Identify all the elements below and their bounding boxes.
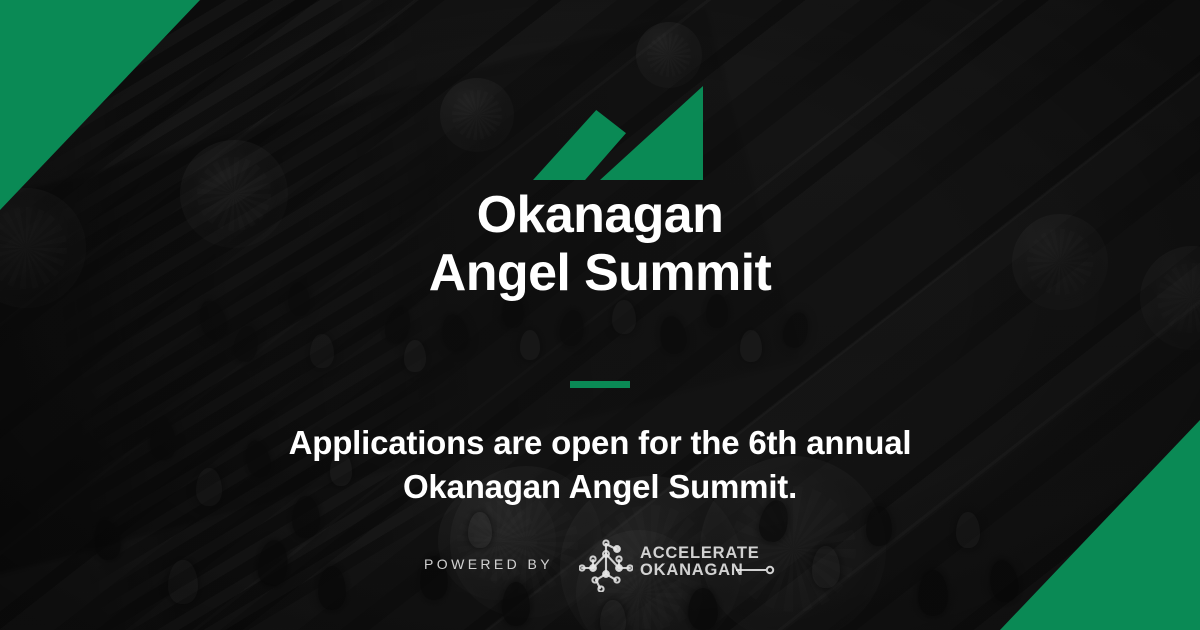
accelerate-okanagan-wordmark-svg: ACCELERATE OKANAGAN <box>640 542 776 582</box>
page-title: Okanagan Angel Summit <box>429 186 771 302</box>
subtitle-line-2: Okanagan Angel Summit. <box>289 465 912 509</box>
accelerate-okanagan-wordmark: ACCELERATE OKANAGAN <box>640 542 776 587</box>
promo-poster: Okanagan Angel Summit Applications are o… <box>0 0 1200 630</box>
svg-text:OKANAGAN: OKANAGAN <box>640 561 744 579</box>
powered-by-label: POWERED BY <box>424 556 553 572</box>
green-divider-rule <box>570 381 630 388</box>
accelerate-okanagan-node-network-icon <box>579 536 633 592</box>
svg-text:ACCELERATE: ACCELERATE <box>640 544 760 562</box>
title-line-1: Okanagan <box>429 186 771 244</box>
subtitle-line-1: Applications are open for the 6th annual <box>289 421 912 465</box>
page-subtitle: Applications are open for the 6th annual… <box>289 421 912 509</box>
title-line-2: Angel Summit <box>429 244 771 302</box>
accelerate-okanagan-logo[interactable]: ACCELERATE OKANAGAN <box>579 536 776 592</box>
powered-by-footer: POWERED BY <box>0 536 1200 592</box>
wordmark-tail-node <box>767 566 773 572</box>
